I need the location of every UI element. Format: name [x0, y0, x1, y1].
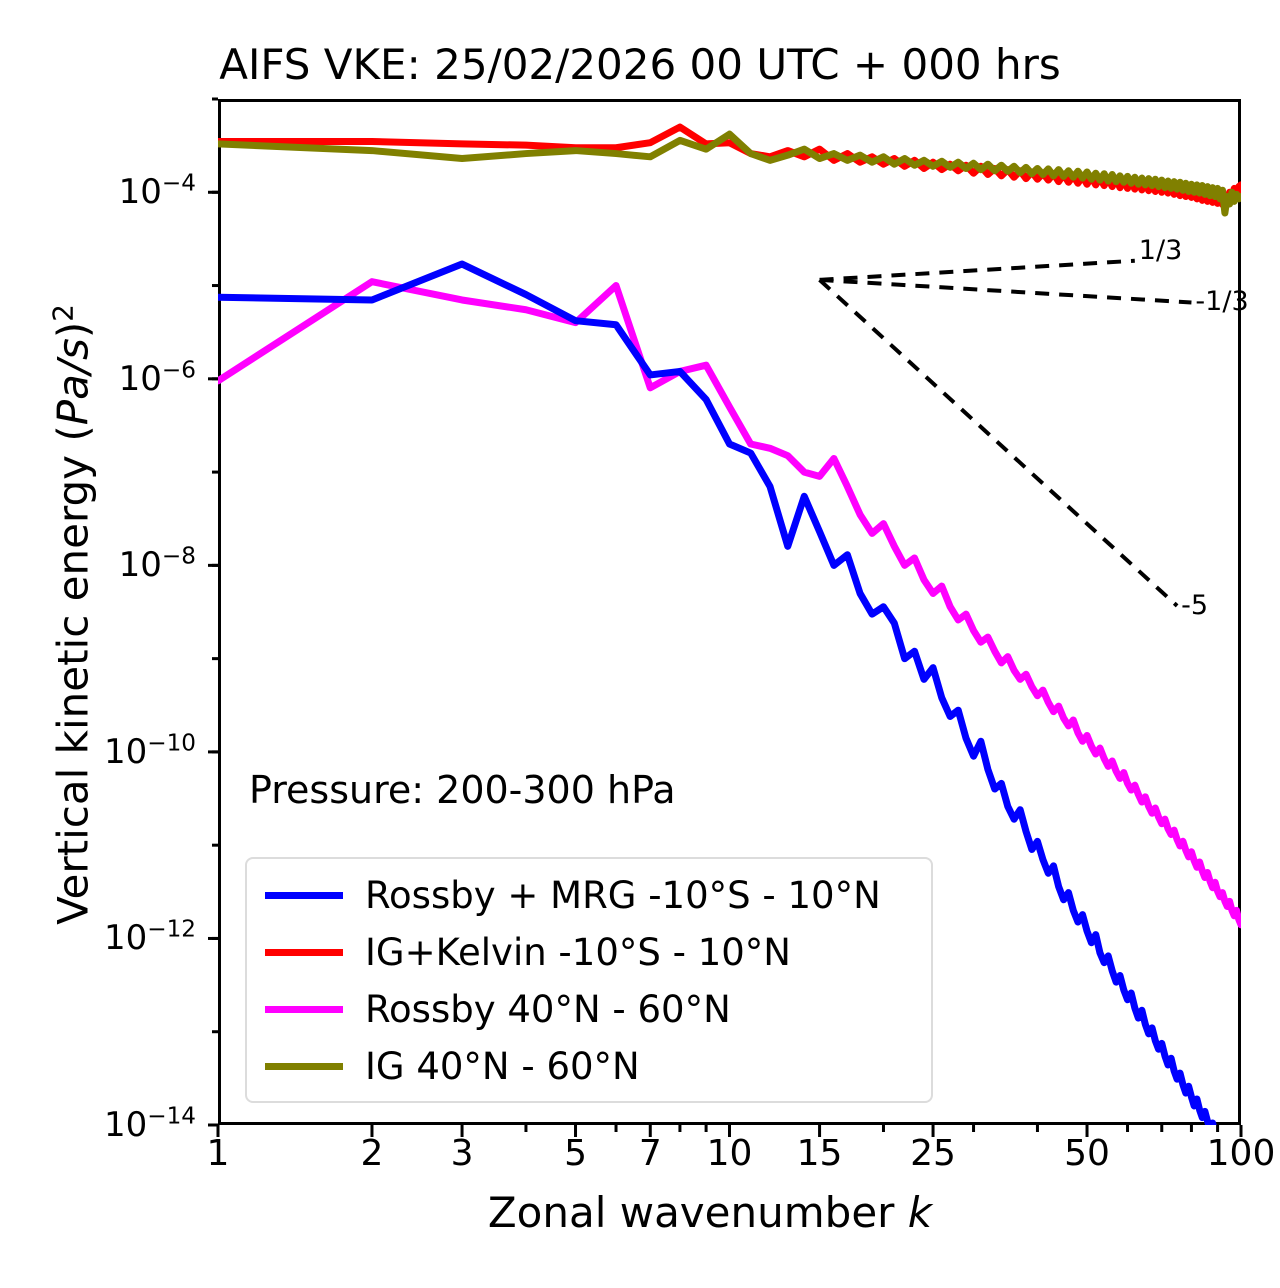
y-axis-title: Vertical kinetic energy (Pa/s)2: [49, 265, 98, 965]
legend-color-swatch: [265, 949, 343, 956]
legend-color-swatch: [265, 892, 343, 899]
slope-label-negative-five: -5: [1181, 590, 1208, 621]
x-axis-title: Zonal wavenumber k: [0, 1188, 1280, 1237]
x-tick-label: 100: [1207, 1133, 1276, 1174]
legend-item[interactable]: IG 40°N - 60°N: [265, 1038, 640, 1095]
y-axis-tick-labels: 10−410−610−810−1010−1210−14: [0, 0, 196, 1288]
pressure-annotation: Pressure: 200-300 hPa: [249, 768, 676, 812]
slope-label-positive-third: 1/3: [1139, 235, 1182, 266]
y-tick-label: 10−4: [119, 172, 196, 212]
slope-label-negative-third: -1/3: [1195, 286, 1248, 317]
x-tick-label: 5: [564, 1133, 587, 1174]
legend-item-label: Rossby + MRG -10°S - 10°N: [365, 874, 881, 917]
y-tick-label: 10−14: [104, 1105, 196, 1145]
x-tick-label: 2: [361, 1133, 384, 1174]
legend-item-label: IG+Kelvin -10°S - 10°N: [365, 931, 791, 974]
chart-page: AIFS VKE: 25/02/2026 00 UTC + 000 hrs 10…: [0, 0, 1280, 1288]
legend-item[interactable]: Rossby + MRG -10°S - 10°N: [265, 867, 881, 924]
y-tick-label: 10−8: [119, 545, 196, 585]
x-tick-label: 15: [797, 1133, 843, 1174]
x-tick-label: 50: [1064, 1133, 1110, 1174]
x-tick-label: 10: [707, 1133, 753, 1174]
legend-item-label: Rossby 40°N - 60°N: [365, 988, 731, 1031]
y-tick-label: 10−6: [119, 359, 196, 399]
y-tick-label: 10−10: [104, 732, 196, 772]
legend-color-swatch: [265, 1006, 343, 1013]
legend: Rossby + MRG -10°S - 10°NIG+Kelvin -10°S…: [245, 857, 933, 1103]
x-tick-label: 3: [451, 1133, 474, 1174]
x-tick-label: 1: [207, 1133, 230, 1174]
x-tick-label: 25: [910, 1133, 956, 1174]
y-tick-label: 10−12: [104, 918, 196, 958]
legend-item[interactable]: Rossby 40°N - 60°N: [265, 981, 731, 1038]
x-tick-label: 7: [639, 1133, 662, 1174]
legend-item[interactable]: IG+Kelvin -10°S - 10°N: [265, 924, 791, 981]
legend-item-label: IG 40°N - 60°N: [365, 1045, 640, 1088]
legend-color-swatch: [265, 1063, 343, 1070]
